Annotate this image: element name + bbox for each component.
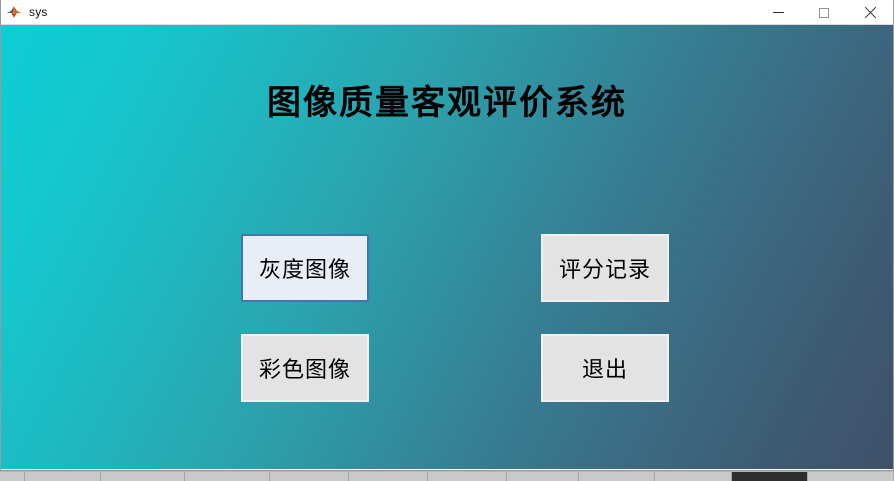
taskbar-item[interactable]	[655, 472, 732, 481]
window-title: sys	[29, 5, 48, 19]
maximize-button[interactable]	[801, 0, 847, 25]
taskbar-item[interactable]	[185, 472, 270, 481]
taskbar-item[interactable]	[270, 472, 349, 481]
gray-image-button[interactable]: 灰度图像	[241, 234, 369, 302]
minimize-button[interactable]	[755, 0, 801, 25]
taskbar-item[interactable]	[101, 472, 186, 481]
score-record-button[interactable]: 评分记录	[541, 234, 669, 302]
taskbar-item[interactable]	[25, 472, 101, 481]
desktop-taskbar[interactable]	[0, 471, 894, 481]
close-button[interactable]	[847, 0, 893, 25]
maximize-icon	[819, 8, 829, 18]
taskbar-item[interactable]	[349, 472, 428, 481]
exit-button[interactable]: 退出	[541, 334, 669, 402]
window-controls	[755, 0, 893, 25]
close-icon	[864, 7, 876, 19]
application-window: sys 图像质量客观评价系统 灰度图像 评分记录 彩色图像 退出	[0, 0, 894, 471]
color-image-button[interactable]: 彩色图像	[241, 334, 369, 402]
taskbar-item[interactable]	[732, 472, 808, 481]
figure-canvas: 图像质量客观评价系统 灰度图像 评分记录 彩色图像 退出	[1, 25, 893, 469]
minimize-icon	[773, 12, 784, 13]
taskbar-item[interactable]	[507, 472, 579, 481]
title-bar[interactable]: sys	[1, 0, 893, 25]
taskbar-item[interactable]	[808, 472, 894, 481]
taskbar-item[interactable]	[579, 472, 655, 481]
page-title: 图像质量客观评价系统	[1, 81, 893, 125]
taskbar-item[interactable]	[428, 472, 507, 481]
matlab-membrane-icon	[5, 3, 23, 21]
taskbar-item[interactable]	[0, 472, 25, 481]
